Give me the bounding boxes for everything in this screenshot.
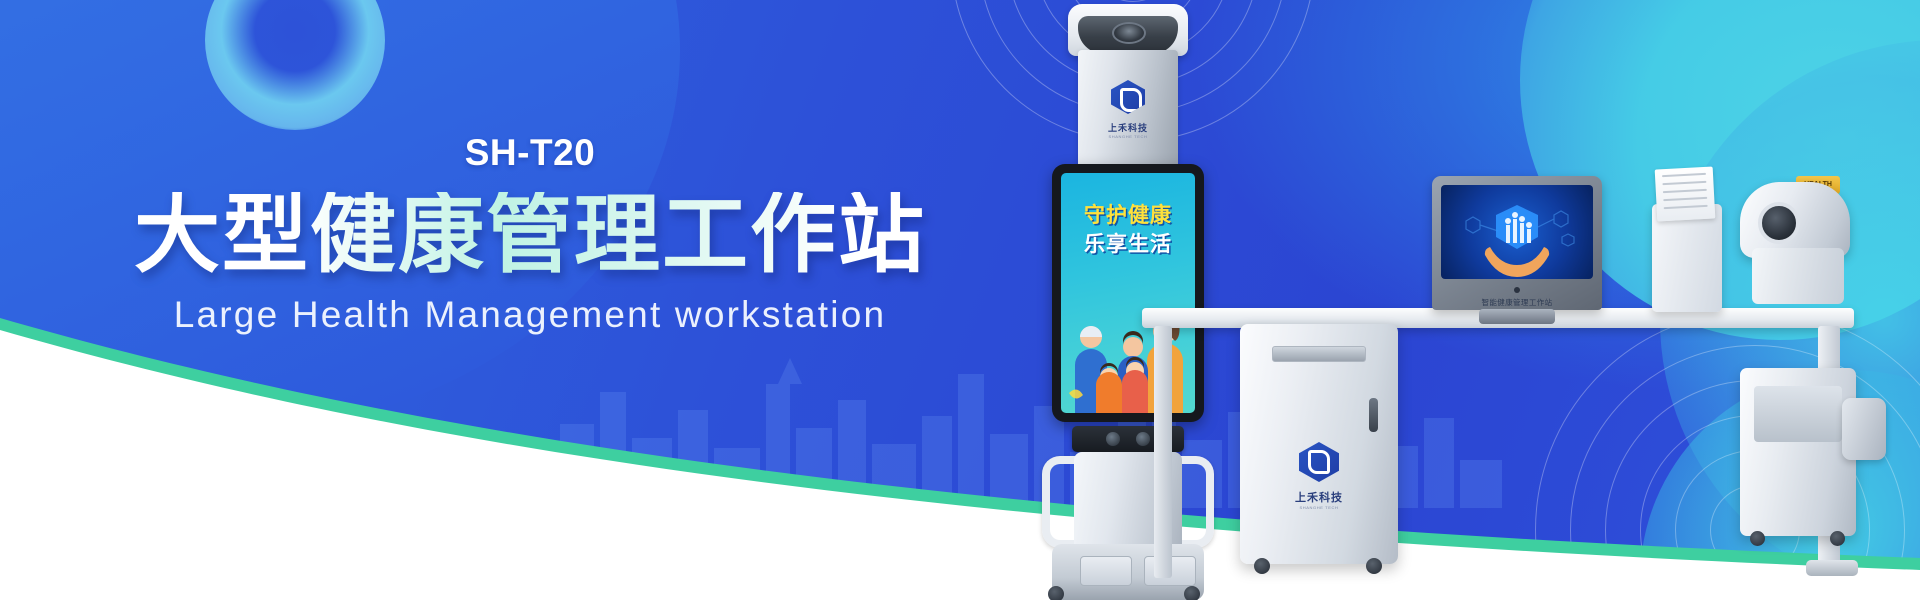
receipt-line: [1663, 197, 1707, 201]
kiosk-caster-right: [1184, 586, 1200, 600]
receipt-line: [1662, 181, 1706, 185]
cabinet-door-handle[interactable]: [1369, 398, 1378, 432]
foot-pad-left: [1080, 556, 1132, 586]
desk-leg-left: [1154, 326, 1172, 578]
blood-pressure-cuff[interactable]: [1842, 398, 1886, 460]
kiosk-brand-name: 上禾科技: [1078, 121, 1178, 134]
cabinet-caster-left: [1254, 558, 1270, 574]
kiosk-caster-left: [1048, 586, 1064, 600]
page-subtitle: Large Health Management workstation: [0, 294, 1060, 336]
receipt-line: [1664, 205, 1708, 209]
monitor-caption: 智能健康管理工作站: [1432, 297, 1602, 308]
cabinet-brand-name: 上禾科技: [1240, 489, 1398, 505]
banner-copy: SH-T20 大型健康管理工作站 Large Health Management…: [0, 132, 1060, 336]
analyzer-sensor-icon: [1758, 202, 1800, 244]
cabinet-brand-pinyin: SHANGHE TECH: [1240, 505, 1398, 510]
health-shield-icon: [1441, 185, 1593, 279]
kiosk-head-inner: [1078, 16, 1178, 54]
workstation-desk: 上禾科技 SHANGHE TECH: [1142, 248, 1902, 588]
printed-receipt: [1655, 167, 1716, 222]
product-hero-banner: SH-T20 大型健康管理工作站 Large Health Management…: [0, 0, 1920, 600]
analyzer-body: [1752, 248, 1844, 304]
company-logo-mark-icon: [1111, 80, 1145, 114]
right-floor-unit: [1740, 368, 1856, 536]
kiosk-brand-pinyin: SHANGHE TECH: [1078, 134, 1178, 139]
desk-foot-right: [1806, 560, 1858, 576]
floor-unit-caster-right: [1830, 531, 1845, 546]
floor-unit-caster-left: [1750, 531, 1765, 546]
product-photo: 上禾科技 SHANGHE TECH 守护健康 乐享生活: [1022, 0, 1902, 600]
cabinet-caster-right: [1366, 558, 1382, 574]
analyzer-head: [1740, 182, 1850, 258]
health-analyzer-device[interactable]: HEALTH: [1734, 182, 1862, 310]
cabinet-brand-logo: 上禾科技 SHANGHE TECH: [1240, 442, 1398, 510]
monitor-power-led: [1514, 287, 1520, 293]
monitor-screen: [1441, 185, 1593, 279]
equipment-cabinet: 上禾科技 SHANGHE TECH: [1240, 324, 1398, 564]
floor-unit-panel[interactable]: [1754, 386, 1842, 442]
kiosk-headline-line1: 守护健康: [1061, 199, 1195, 229]
kiosk-brand-logo: 上禾科技 SHANGHE TECH: [1078, 80, 1178, 139]
kiosk-handrail-left[interactable]: [1042, 456, 1076, 548]
receipt-line: [1662, 173, 1706, 177]
page-title: 大型健康管理工作站: [0, 192, 1060, 280]
camera-lens-icon: [1112, 22, 1146, 44]
model-code: SH-T20: [0, 132, 1060, 174]
monitor-stand: [1479, 309, 1555, 324]
company-logo-mark-icon: [1299, 442, 1339, 482]
sensor-lens-icon: [1106, 432, 1120, 446]
kiosk-head-housing: [1068, 4, 1188, 56]
receipt-printer[interactable]: [1652, 204, 1722, 312]
monitor-bezel: 智能健康管理工作站: [1432, 176, 1602, 310]
receipt-line: [1663, 189, 1707, 193]
desktop-monitor[interactable]: 智能健康管理工作站: [1432, 176, 1602, 310]
cabinet-card-slot[interactable]: [1272, 346, 1366, 362]
kiosk-neck-panel: 上禾科技 SHANGHE TECH: [1078, 50, 1178, 168]
